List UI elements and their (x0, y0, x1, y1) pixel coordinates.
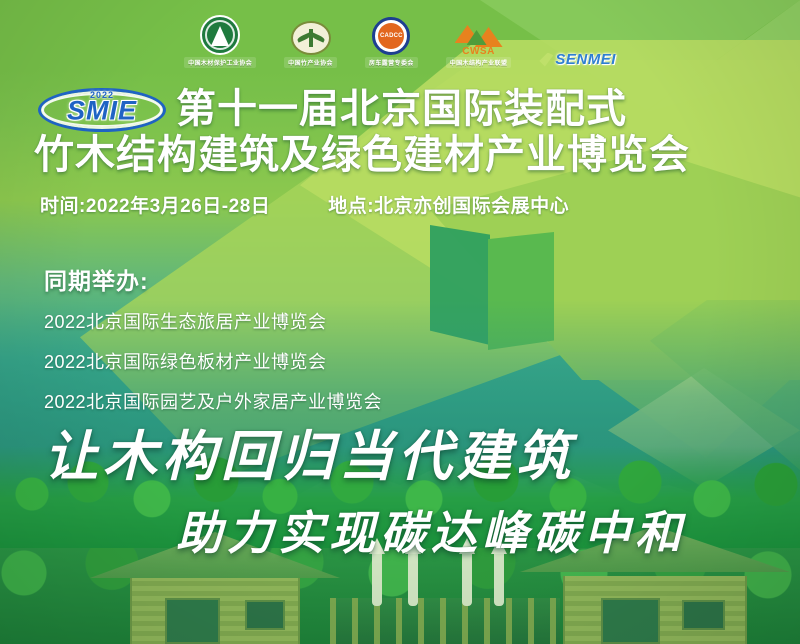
logo-caption: 中国木结构产业联盟 (446, 57, 512, 68)
concurrent-event-item: 2022北京国际绿色板材产业博览会 (44, 348, 382, 374)
cabin-window (245, 600, 285, 630)
concurrent-heading: 同期举办: (44, 262, 382, 296)
smie-logo: 2022 SMIE (38, 88, 166, 132)
sprout-shape (539, 53, 553, 67)
bamboo-roundel-icon (291, 21, 331, 55)
title-row-1: 2022 SMIE 第十一届北京国际装配式 (0, 88, 800, 132)
slogan-line-2: 助力实现碳达峰碳中和 (0, 497, 800, 563)
title-line-2: 竹木结构建筑及绿色建材产业博览会 (0, 134, 800, 177)
logo-caption: 中国木材保护工业协会 (184, 57, 256, 68)
slogan-line-1: 让木构回归当代建筑 (0, 412, 800, 491)
house-roof-icon: CWSA (453, 25, 505, 55)
title-line-1: 第十一届北京国际装配式 (176, 88, 627, 131)
logo-bamboo-industry-association: 中国竹产业协会 (284, 10, 337, 68)
cadcc-monogram: CADCC (380, 33, 403, 39)
cabin-door (601, 598, 660, 644)
concurrent-event-item: 2022北京国际园艺及户外家居产业博览会 (44, 388, 382, 414)
cadcc-roundel-icon: CADCC (372, 17, 410, 55)
event-venue: 地点:北京亦创国际会展中心 (328, 191, 569, 218)
event-date: 时间:2022年3月26日-28日 (40, 191, 270, 218)
pine-roundel-icon (200, 15, 240, 55)
senmei-wordmark: SENMEI (555, 51, 616, 68)
concurrent-events-block: 同期举办: 2022北京国际生态旅居产业博览会 2022北京国际绿色板材产业博览… (44, 262, 382, 428)
logo-china-timber-association: 中国木材保护工业协会 (184, 10, 256, 68)
concurrent-event-item: 2022北京国际生态旅居产业博览会 (44, 308, 382, 334)
logo-caption: 房车露营专委会 (365, 57, 418, 68)
logo-caption: 中国竹产业协会 (284, 57, 337, 68)
cabin-window (682, 600, 725, 630)
smie-letters: SMIE (67, 95, 137, 126)
cwsa-monogram: CWSA (453, 46, 505, 57)
logo-senmei: SENMEI (539, 10, 616, 68)
sponsor-logo-strip: 中国木材保护工业协会 中国竹产业协会 CADCC 房车露营专委会 (0, 8, 800, 70)
exhibition-poster: 中国木材保护工业协会 中国竹产业协会 CADCC 房车露营专委会 (0, 0, 800, 644)
event-meta-row: 时间:2022年3月26日-28日 地点:北京亦创国际会展中心 (0, 191, 800, 218)
logo-cadcc: CADCC 房车露营专委会 (365, 10, 418, 68)
cabin-door (165, 598, 220, 644)
logo-cwsa: CWSA 中国木结构产业联盟 (446, 10, 512, 68)
cadcc-inner-disc: CADCC (378, 23, 404, 49)
sprout-leaf-icon: SENMEI (539, 51, 616, 68)
slogan-block: 让木构回归当代建筑 助力实现碳达峰碳中和 (0, 412, 800, 563)
headline-block: 2022 SMIE 第十一届北京国际装配式 竹木结构建筑及绿色建材产业博览会 时… (0, 88, 800, 218)
pine-tree-shape (211, 26, 229, 46)
